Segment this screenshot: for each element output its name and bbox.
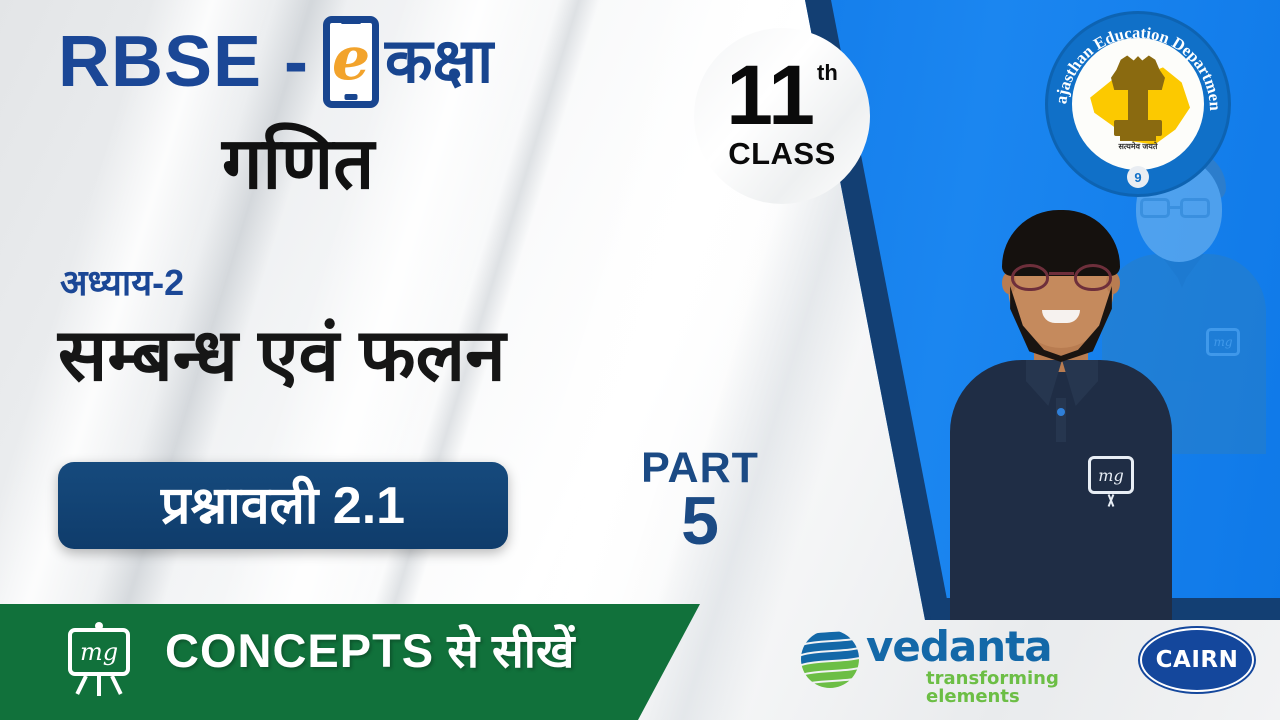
shirt-logo-icon: mg xyxy=(1088,456,1134,494)
part-number: 5 xyxy=(600,487,800,555)
ashoka-lions-icon xyxy=(1111,54,1165,90)
cairn-wordmark: CAIRN xyxy=(1156,647,1239,673)
national-motto: सत्यमेव जयते xyxy=(1072,141,1204,152)
misostudy-logo: mg xyxy=(60,622,138,700)
brand-title: RBSE - e कक्षा xyxy=(58,16,493,108)
ashoka-base-icon xyxy=(1120,134,1156,141)
presenter-photos: mg mg xyxy=(940,150,1280,620)
easel-board-icon: mg xyxy=(68,628,130,676)
chapter-title: सम्बन्ध एवं फलन xyxy=(58,318,506,395)
footer-tagline-hi: से सीखें xyxy=(434,624,574,677)
class-badge: 11 th CLASS xyxy=(694,28,870,204)
glasses-icon xyxy=(1011,264,1049,291)
subject-title: गणित xyxy=(222,128,374,200)
easel-logo-text: mg xyxy=(80,640,118,664)
glasses-bridge-icon xyxy=(1170,206,1182,209)
exercise-badge[interactable]: प्रश्नावली 2.1 xyxy=(58,462,508,549)
footer-tagline-en: CONCEPTS xyxy=(165,624,434,677)
glasses-icon xyxy=(1074,264,1112,291)
brand-separator: - xyxy=(284,26,309,98)
class-label: CLASS xyxy=(728,136,836,172)
presenter-primary-button xyxy=(1057,408,1065,416)
presenter-primary-placket xyxy=(1056,398,1066,442)
exercise-label: प्रश्नावली 2.1 xyxy=(161,480,405,532)
class-number: 11 xyxy=(726,60,815,131)
department-logo-inner: सत्यमेव जयते xyxy=(1072,38,1204,170)
easel-leg-center-icon xyxy=(97,676,101,696)
easel-leg-left-icon xyxy=(75,675,87,695)
thumbnail-canvas: mg mg RBSE - e कक्षा गण xyxy=(0,0,1280,720)
vedanta-tagline: transforming elements xyxy=(926,670,1090,706)
department-bottom-mark: 9 xyxy=(1127,166,1149,188)
mobile-phone-icon: e xyxy=(323,16,379,108)
presenter-primary: mg xyxy=(964,210,1214,610)
footer-tagline: CONCEPTS से सीखें xyxy=(165,623,574,679)
class-number-suffix: th xyxy=(817,62,838,84)
shirt-logo-stand-icon xyxy=(1104,494,1118,508)
class-number-row: 11 th xyxy=(726,60,838,131)
vedanta-wordmark: vedanta xyxy=(866,626,1052,668)
rajasthan-education-department-logo: Rajasthan Education Department सत्यमेव ज… xyxy=(1048,14,1228,194)
glasses-bridge-icon xyxy=(1049,272,1074,275)
vedanta-logo: vedanta transforming elements xyxy=(800,624,1090,698)
vedanta-globe-icon xyxy=(800,628,860,690)
cairn-logo: CAIRN xyxy=(1140,628,1254,692)
e-letter-glyph: e xyxy=(332,29,370,89)
chapter-label: अध्याय-2 xyxy=(60,265,184,301)
brand-suffix: कक्षा xyxy=(385,31,493,93)
brand-name: RBSE xyxy=(58,26,262,98)
part-indicator: PART 5 xyxy=(600,446,800,555)
ashoka-column-icon xyxy=(1128,88,1148,122)
easel-leg-right-icon xyxy=(110,675,122,695)
